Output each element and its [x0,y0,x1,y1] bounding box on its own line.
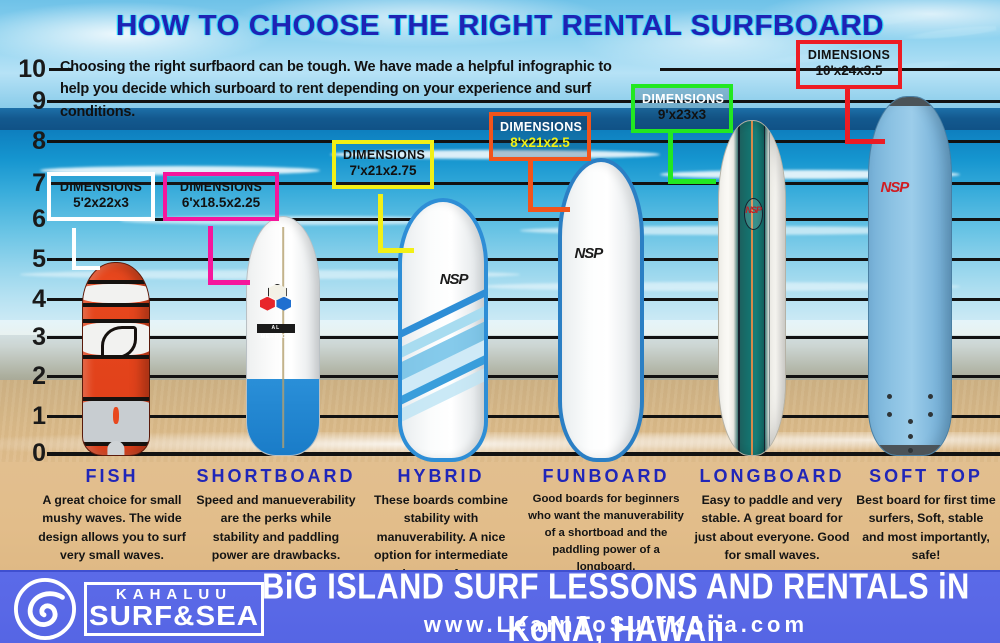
axis-tick-1: 1 [16,402,46,431]
brand-logo[interactable]: KAHALUU SURF&SEA [14,578,264,640]
axis-tick-0: 0 [16,439,46,468]
leader-line-hybrid [378,194,383,252]
axis-tick-4: 4 [16,285,46,314]
category-description: Easy to paddle and very stable. A great … [692,491,852,565]
fish-board-body [82,262,150,456]
category-description: Best board for first time surfers, Soft,… [856,491,996,565]
funboard-logo: NSP [574,245,602,262]
dimension-callout-funboard: DIMENSIONS 8'x21x2.5 [489,112,591,161]
shortboard-brand-decal: AL MERRICK [257,324,294,333]
dimension-value: 8'x21x2.5 [500,135,580,152]
leader-line-funboard-2 [528,207,570,212]
dimension-value: 5'2x22x3 [58,195,144,212]
footer-website[interactable]: www.LearnToSurfKona.com [232,612,1000,638]
gridline-3 [47,336,1000,339]
dimension-callout-fish: DIMENSIONS 5'2x22x3 [47,172,155,221]
axis-tick-10: 10 [16,55,46,84]
leader-line-shortboard [208,226,213,284]
dimension-title: DIMENSIONS [343,148,423,162]
category-name: HYBRID [362,466,520,487]
dimension-title: DIMENSIONS [807,48,891,62]
infographic-poster: HOW TO CHOOSE THE RIGHT RENTAL SURFBOARD… [0,0,1000,643]
shortboard-body: AL MERRICK [246,216,320,456]
dimension-title: DIMENSIONS [500,120,580,134]
leader-line-shortboard-2 [208,280,250,285]
dimension-value: 6'x18.5x2.25 [174,195,268,212]
board-hybrid[interactable]: NSP [398,198,480,454]
hybrid-logo: NSP [440,271,468,288]
dimension-value: 10'x24x3.5 [807,63,891,80]
gridline-9 [47,100,1000,103]
leader-line-fish [72,228,76,270]
category-name: LONGBOARD [692,466,852,487]
board-funboard[interactable]: NSP [558,158,636,454]
longboard-body: NSP [718,120,786,456]
category-name: FISH [36,466,188,487]
gridline-1 [47,415,1000,418]
leader-line-longboard-2 [668,179,716,184]
leader-line-fish-2 [72,266,100,270]
category-shortboard: SHORTBOARD Speed and manueverability are… [196,466,356,565]
longboard-logo: NSP [745,205,761,215]
dimension-title: DIMENSIONS [174,180,268,194]
wave-spiral-icon [14,578,76,640]
category-description: A great choice for small mushy waves. Th… [36,491,188,565]
axis-tick-3: 3 [16,323,46,352]
axis-tick-5: 5 [16,245,46,274]
category-name: FUNBOARD [522,466,690,487]
board-shortboard[interactable]: AL MERRICK [246,216,318,454]
funboard-body: NSP [558,158,644,462]
dimension-value: 7'x21x2.75 [343,163,423,180]
dimension-callout-softtop: DIMENSIONS 10'x24x3.5 [796,40,902,89]
category-funboard: FUNBOARD Good boards for beginners who w… [522,466,690,577]
dimension-title: DIMENSIONS [58,180,144,194]
gridline-2 [47,375,1000,378]
board-longboard[interactable]: NSP [718,120,784,454]
board-fish[interactable] [82,262,148,454]
gridline-0-baseline [47,452,1000,456]
category-fish: FISH A great choice for small mushy wave… [36,466,188,565]
category-longboard: LONGBOARD Easy to paddle and very stable… [692,466,852,565]
axis-tick-2: 2 [16,362,46,391]
leader-line-softtop [845,88,850,144]
dimension-callout-shortboard: DIMENSIONS 6'x18.5x2.25 [163,172,279,221]
hybrid-body: NSP [398,198,488,462]
gridline-4 [47,298,1000,301]
axis-tick-6: 6 [16,205,46,234]
dimension-callout-longboard: DIMENSIONS 9'x23x3 [631,84,733,133]
axis-tick-9: 9 [16,87,46,116]
leader-line-softtop-2 [845,139,885,144]
axis-tick-8: 8 [16,127,46,156]
leader-line-funboard [528,160,533,212]
gridline-10 [49,68,73,71]
dimension-title: DIMENSIONS [642,92,722,106]
softtop-body: NSP [868,96,952,456]
dimension-value: 9'x23x3 [642,107,722,124]
category-softtop: SOFT TOP Best board for first time surfe… [856,466,996,565]
gridline-5 [47,258,1000,261]
softtop-logo: NSP [880,179,908,196]
axis-tick-7: 7 [16,169,46,198]
board-softtop[interactable]: NSP [868,96,950,454]
category-description: Speed and manueverability are the perks … [196,491,356,565]
leader-line-hybrid-2 [378,248,414,253]
leader-line-longboard [668,130,673,184]
dimension-callout-hybrid: DIMENSIONS 7'x21x2.75 [332,140,434,189]
category-name: SOFT TOP [856,466,996,487]
category-description: Good boards for beginners who want the m… [522,491,690,577]
page-title: HOW TO CHOOSE THE RIGHT RENTAL SURFBOARD [0,10,1000,43]
category-name: SHORTBOARD [196,466,356,487]
